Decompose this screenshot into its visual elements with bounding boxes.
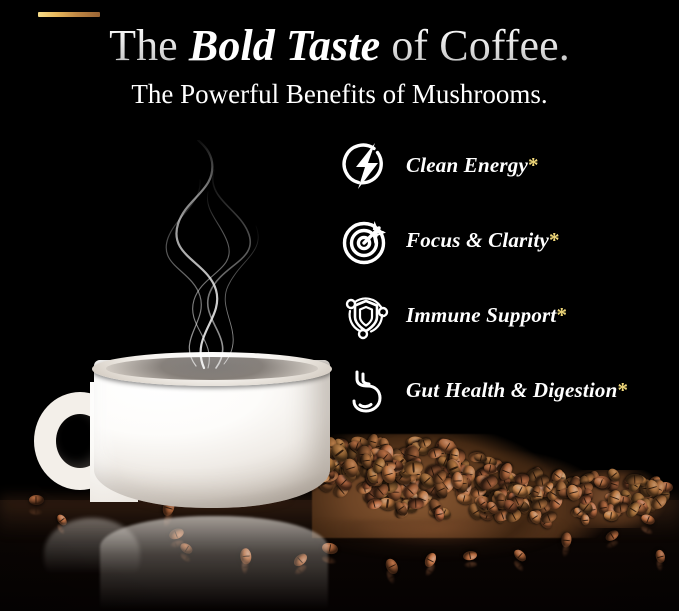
coffee-bean: [581, 514, 590, 526]
headline-part2: of Coffee.: [380, 21, 570, 70]
benefit-item-immune-support: Immune Support*: [340, 278, 679, 353]
promo-banner: The Bold Taste of Coffee. The Powerful B…: [0, 0, 679, 611]
benefits-list: Clean Energy* Focus & Clarity*: [340, 128, 679, 428]
benefit-item-focus-clarity: Focus & Clarity*: [340, 203, 679, 278]
page-subtitle: The Powerful Benefits of Mushrooms.: [0, 77, 679, 111]
benefit-label: Focus & Clarity*: [406, 228, 560, 253]
shield-network-icon: [340, 290, 392, 342]
gold-accent-bar: [38, 12, 100, 17]
headline-emphasis: Bold Taste: [189, 21, 380, 70]
benefit-label: Immune Support*: [406, 303, 567, 328]
headline-part1: The: [109, 21, 189, 70]
lightning-bolt-icon: [340, 140, 392, 192]
page-title: The Bold Taste of Coffee.: [0, 20, 679, 72]
stomach-icon: [340, 365, 392, 417]
benefit-label: Gut Health & Digestion*: [406, 378, 628, 403]
benefit-item-clean-energy: Clean Energy*: [340, 128, 679, 203]
benefit-label: Clean Energy*: [406, 153, 539, 178]
benefit-item-gut-health: Gut Health & Digestion*: [340, 353, 679, 428]
coffee-cup: [22, 352, 330, 532]
handle-reflection: [44, 518, 140, 588]
target-arrow-icon: [340, 215, 392, 267]
steam-icon: [120, 140, 280, 370]
